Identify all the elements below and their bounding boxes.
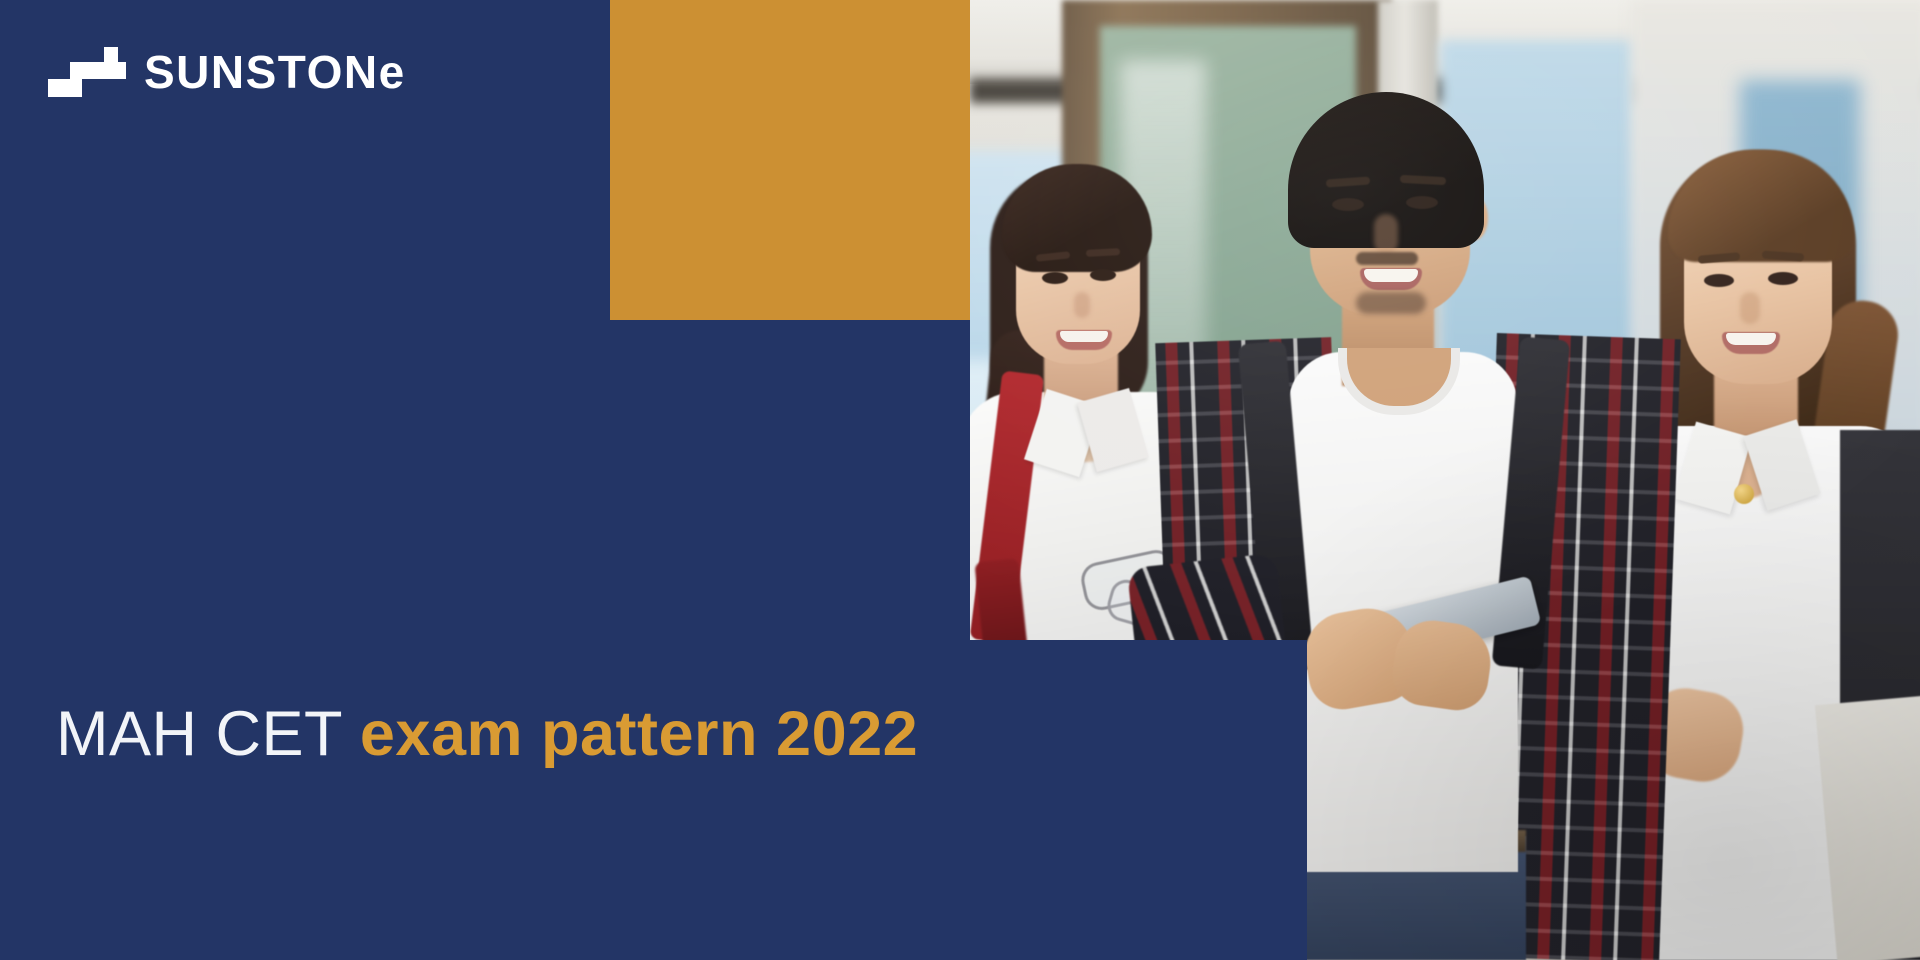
- student-left-nose: [1074, 292, 1090, 318]
- student-left-eye-left: [1042, 272, 1068, 284]
- student-center-eye-right: [1406, 196, 1438, 209]
- student-right-nose: [1740, 292, 1760, 324]
- student-center-chin-beard: [1356, 292, 1426, 314]
- student-center-moustache: [1356, 252, 1418, 265]
- student-center-nose: [1374, 214, 1398, 254]
- headline-light-text: MAH CET: [56, 699, 360, 769]
- student-right-eye-left: [1704, 274, 1734, 287]
- student-center-teeth: [1364, 269, 1418, 282]
- gold-accent-square: [610, 0, 972, 320]
- student-right-teeth: [1726, 333, 1776, 345]
- sunstone-wordmark: SUNSTONe: [144, 49, 406, 95]
- sunstone-step-mark-icon: [48, 47, 126, 97]
- student-right-pendant: [1734, 484, 1754, 504]
- student-left-eye-right: [1090, 269, 1116, 281]
- student-left-teeth: [1060, 331, 1108, 342]
- headline: MAH CET exam pattern 2022: [56, 701, 918, 768]
- headline-gold-text: exam pattern 2022: [360, 699, 918, 769]
- promo-banner: SUNSTONe MAH CET exam pattern 2022: [0, 0, 1920, 960]
- student-right-eye-right: [1768, 272, 1798, 285]
- student-center-eye-left: [1332, 198, 1364, 211]
- sunstone-logo[interactable]: SUNSTONe: [48, 40, 406, 104]
